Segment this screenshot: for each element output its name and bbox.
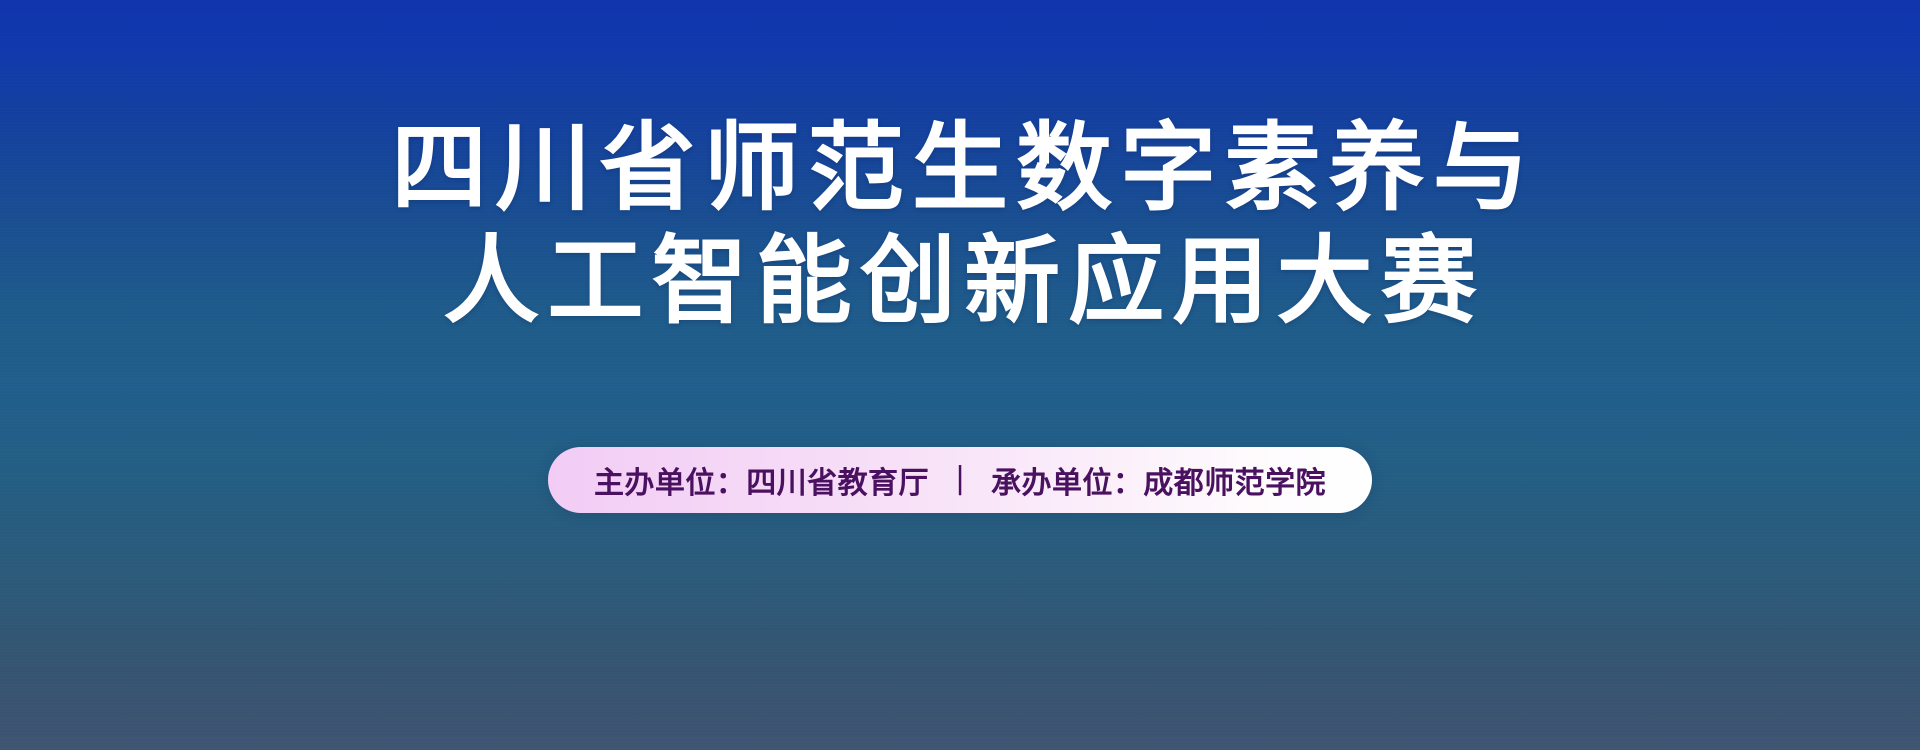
page-title: 四川省师范生数字素养与 人工智能创新应用大赛 xyxy=(383,112,1537,339)
organizer-label: 主办单位：四川省教育厅 xyxy=(594,458,929,502)
organizer-pill-wrap: 主办单位：四川省教育厅 | 承办单位：成都师范学院 xyxy=(0,447,1920,513)
pill-separator: | xyxy=(929,461,991,496)
host-label: 承办单位：成都师范学院 xyxy=(991,458,1326,502)
title-line-2: 人工智能创新应用大赛 xyxy=(383,225,1537,338)
event-banner: 四川省师范生数字素养与 人工智能创新应用大赛 主办单位：四川省教育厅 | 承办单… xyxy=(0,0,1920,750)
organizer-pill: 主办单位：四川省教育厅 | 承办单位：成都师范学院 xyxy=(548,447,1372,513)
title-line-1: 四川省师范生数字素养与 xyxy=(383,112,1537,225)
banner-content: 四川省师范生数字素养与 人工智能创新应用大赛 主办单位：四川省教育厅 | 承办单… xyxy=(0,0,1920,750)
